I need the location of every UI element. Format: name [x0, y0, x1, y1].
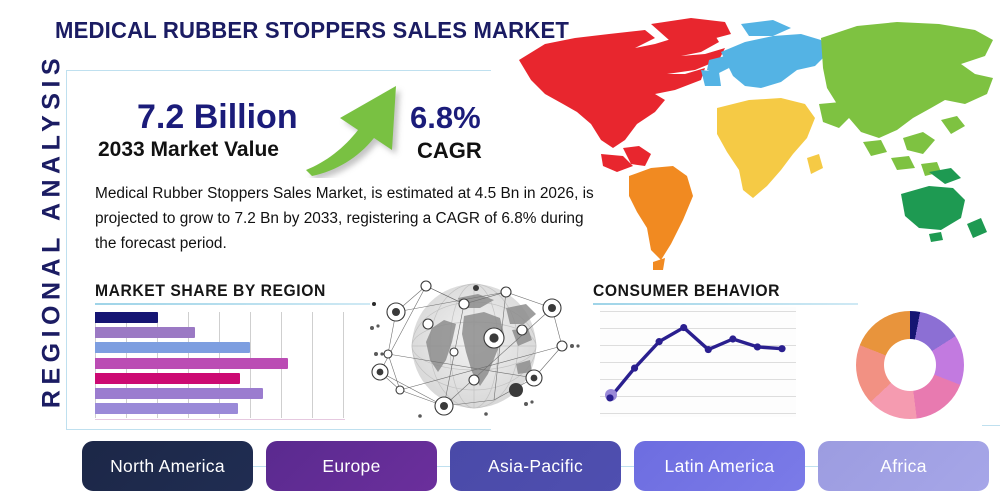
bar-fill — [95, 342, 250, 353]
line-marker — [705, 346, 712, 353]
market-share-bar-chart — [95, 312, 345, 418]
region-tabs: North AmericaEuropeAsia-PacificLatin Ame… — [82, 441, 987, 491]
infographic-canvas: REGIONAL ANALYSIS MEDICAL RUBBER STOPPER… — [0, 0, 1000, 500]
regional-analysis-side-label: REGIONAL ANALYSIS — [38, 21, 67, 441]
region-tab-africa[interactable]: Africa — [818, 441, 989, 491]
region-tab-label: Africa — [880, 456, 927, 477]
bar-chart-bar — [95, 342, 250, 353]
bar-fill — [95, 403, 238, 414]
market-share-section-title: MARKET SHARE BY REGION — [95, 282, 326, 301]
region-tab-label: Europe — [322, 456, 380, 477]
growth-arrow-icon — [300, 78, 420, 178]
bar-fill — [95, 358, 288, 369]
line-path — [610, 328, 782, 398]
cagr-label: CAGR — [417, 138, 482, 164]
bar-chart-bar — [95, 373, 240, 384]
global-network-globe-icon — [366, 268, 581, 426]
region-tab-europe[interactable]: Europe — [266, 441, 437, 491]
region-tab-label: Latin America — [665, 456, 775, 477]
bar-chart-baseline — [95, 419, 345, 420]
consumer-behavior-line-chart — [600, 307, 796, 417]
line-marker — [754, 343, 761, 350]
tab-connector — [437, 466, 450, 467]
line-chart-plot — [600, 307, 796, 417]
region-tab-label: Asia-Pacific — [488, 456, 583, 477]
line-marker — [729, 335, 736, 342]
bar-chart-bar — [95, 327, 195, 338]
bar-chart-bar — [95, 388, 263, 399]
consumer-behavior-title-rule — [593, 303, 858, 305]
segment-donut-chart — [856, 311, 964, 419]
bar-chart-bar — [95, 312, 158, 323]
tab-connector — [253, 466, 266, 467]
market-value-figure: 7.2 Billion — [137, 98, 298, 137]
line-marker — [631, 364, 638, 371]
market-share-title-rule — [95, 303, 370, 305]
region-tab-north-america[interactable]: North America — [82, 441, 253, 491]
line-marker — [680, 324, 687, 331]
bar-fill — [95, 327, 195, 338]
bar-chart-bar — [95, 358, 288, 369]
bar-fill — [95, 388, 263, 399]
consumer-behavior-section-title: CONSUMER BEHAVIOR — [593, 282, 780, 301]
page-title: MEDICAL RUBBER STOPPERS SALES MARKET — [55, 17, 569, 44]
bar-chart-bar — [95, 403, 238, 414]
world-map-icon — [505, 8, 1000, 273]
region-tab-latin-america[interactable]: Latin America — [634, 441, 805, 491]
line-marker — [656, 338, 663, 345]
donut-center-hole — [884, 339, 936, 391]
tabs-rail-horizontal — [982, 425, 1000, 426]
market-value-label: 2033 Market Value — [98, 138, 279, 162]
region-tab-asia-pacific[interactable]: Asia-Pacific — [450, 441, 621, 491]
tab-connector — [621, 466, 634, 467]
cagr-figure: 6.8% — [410, 100, 481, 136]
region-tab-label: North America — [110, 456, 225, 477]
bar-fill — [95, 373, 240, 384]
tab-connector — [805, 466, 818, 467]
line-marker — [778, 345, 785, 352]
bar-fill — [95, 312, 158, 323]
line-marker — [606, 394, 613, 401]
